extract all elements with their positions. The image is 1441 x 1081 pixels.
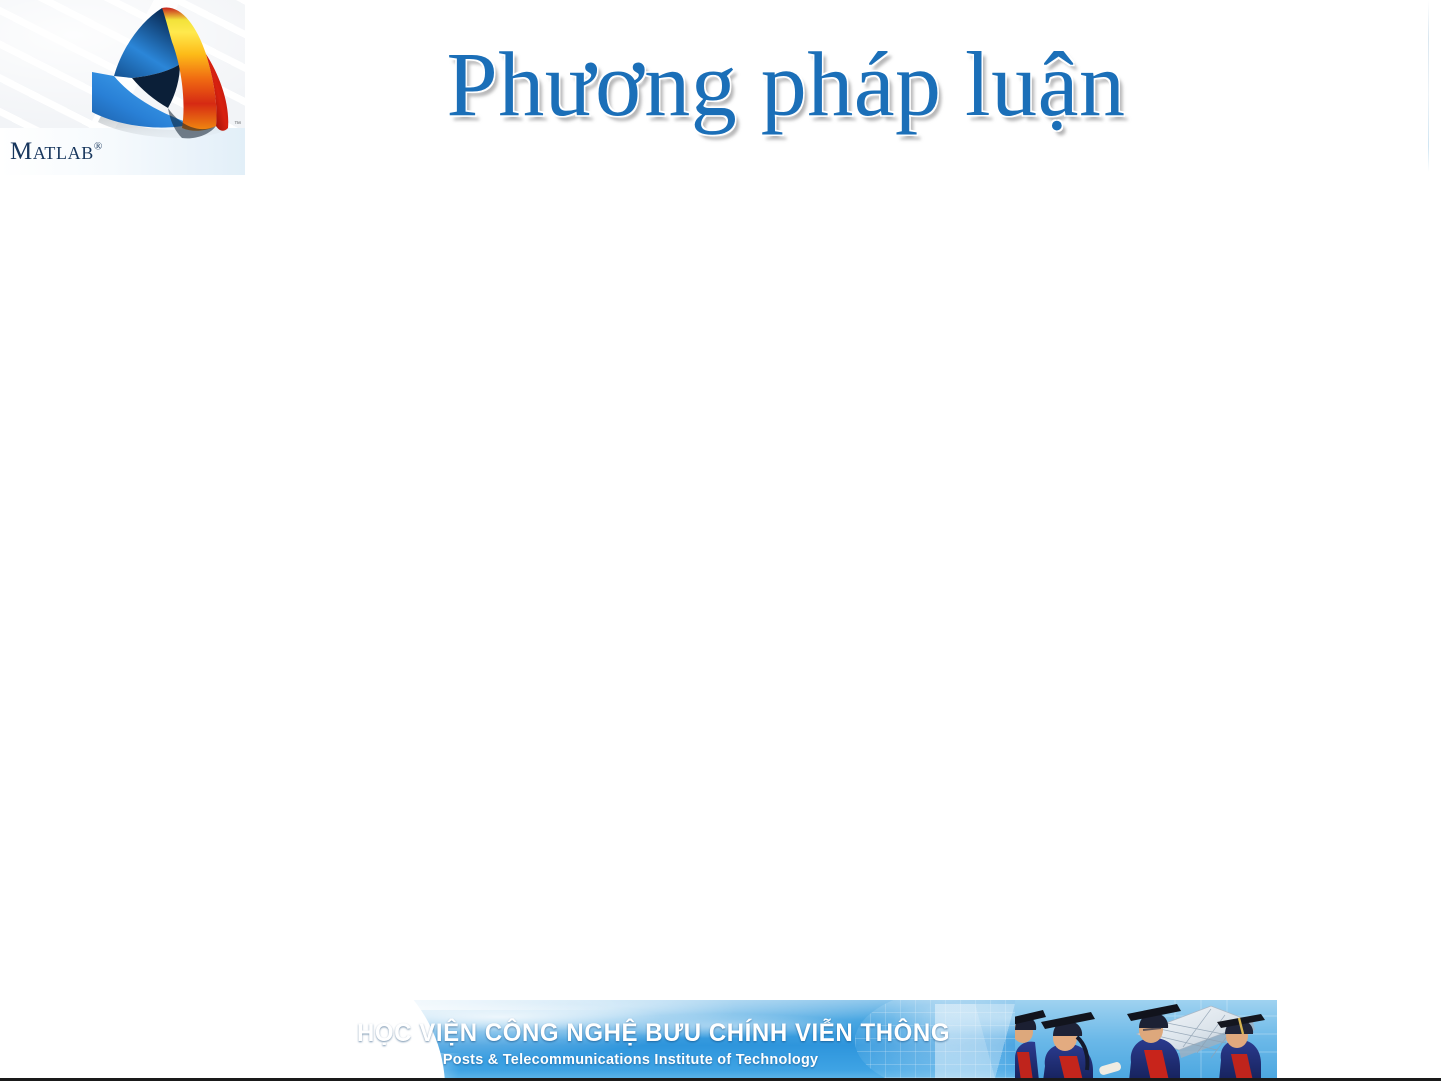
footer-institution-english: Posts & Telecommunications Institute of … [357, 1051, 904, 1068]
matlab-wordmark-text: Matlab [10, 138, 94, 165]
slide-content-area[interactable] [60, 180, 1380, 980]
matlab-wordmark: Matlab® [10, 138, 103, 166]
presentation-slide: ™ Matlab® Phương pháp luận [0, 0, 1441, 1081]
registered-trademark-icon: ® [94, 141, 103, 153]
footer-institution-vietnamese: HỌC VIỆN CÔNG NGHỆ BƯU CHÍNH VIỄN THÔNG [357, 1020, 950, 1048]
page-title-text: Phương pháp luận [447, 36, 1126, 133]
banner-top-highlight [295, 1000, 625, 1010]
graduate-students-photo [1015, 1000, 1277, 1081]
matlab-logo: ™ Matlab® [0, 0, 245, 175]
matlab-membrane-icon: ™ [88, 2, 245, 150]
page-title: Phương pháp luận [296, 18, 1276, 150]
svg-text:™: ™ [234, 121, 241, 128]
right-edge-artifact [1428, 0, 1429, 172]
footer-institution-block: HỌC VIỆN CÔNG NGHỆ BƯU CHÍNH VIỄN THÔNG … [357, 1020, 975, 1068]
footer-banner: HỌC VIỆN CÔNG NGHỆ BƯU CHÍNH VIỄN THÔNG … [295, 1000, 1277, 1081]
